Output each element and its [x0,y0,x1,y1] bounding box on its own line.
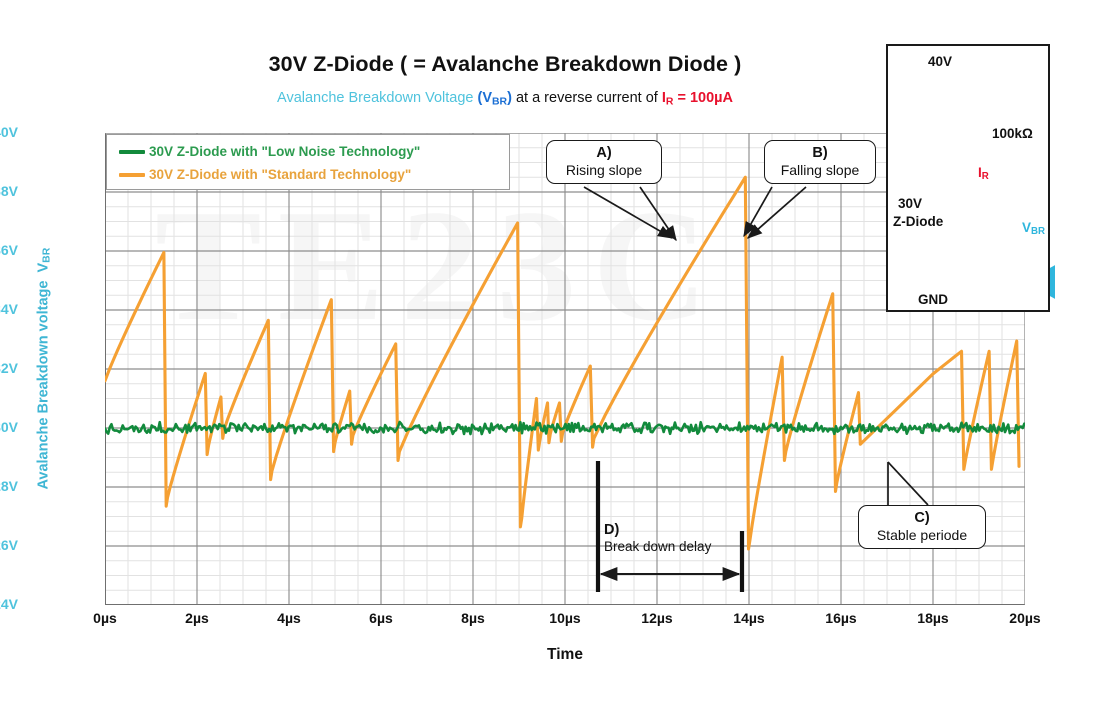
circuit-label-resistor: 100kΩ [992,126,1033,141]
y-tick-36V: 36V [0,242,18,258]
y-tick-38V: 38V [0,183,18,199]
circuit-label-diode-voltage: 30V [898,196,922,211]
legend-label-standard: 30V Z-Diode with "Standard Technology" [149,167,411,182]
x-tick-0µs: 0µs [70,610,140,626]
callout-d-text: Break down delay [600,539,750,556]
legend-item-low-noise: 30V Z-Diode with "Low Noise Technology" [119,140,509,163]
callout-d-letter: D) [600,522,750,539]
chart-subtitle: Avalanche Breakdown Voltage (VBR) at a r… [0,90,1010,107]
legend-item-standard: 30V Z-Diode with "Standard Technology" [119,163,509,186]
x-tick-18µs: 18µs [898,610,968,626]
x-tick-16µs: 16µs [806,610,876,626]
callout-b-letter: B) [775,145,865,162]
legend-swatch-green-icon [119,150,145,154]
subtitle-part-current: at a reverse current of [512,90,662,106]
y-tick-34V: 34V [0,301,18,317]
subtitle-ir: IR = 100µA [662,90,733,106]
circuit-label-vbr: VBR [1022,220,1045,237]
y-axis-title: Avalanche Breakdown voltage VBR [35,209,52,529]
y-tick-40V: 40V [0,124,18,140]
y-tick-26V: 26V [0,537,18,553]
y-tick-28V: 28V [0,478,18,494]
callout-c-text: Stable periode [869,527,975,544]
callout-a-text: Rising slope [557,162,651,179]
x-axis-title: Time [105,646,1025,664]
callout-a-letter: A) [557,145,651,162]
callout-c-stable-periode: C) Stable periode [858,505,986,549]
callout-c-letter: C) [869,510,975,527]
callout-d-break-down-delay: D) Break down delay [600,522,750,556]
y-tick-32V: 32V [0,360,18,376]
circuit-label-current: IR [978,165,989,182]
callout-b-falling-slope: B) Falling slope [764,140,876,184]
circuit-label-ground: GND [918,292,948,307]
x-tick-12µs: 12µs [622,610,692,626]
circuit-label-supply: 40V [928,54,952,69]
series-standard-technology [105,177,1019,549]
x-tick-10µs: 10µs [530,610,600,626]
x-tick-6µs: 6µs [346,610,416,626]
x-tick-20µs: 20µs [990,610,1060,626]
circuit-label-diode-name: Z-Diode [893,214,943,229]
circuit-diagram [886,44,1050,312]
callout-b-text: Falling slope [775,162,865,179]
chart-title: 30V Z-Diode ( = Avalanche Breakdown Diod… [0,52,1010,77]
y-tick-30V: 30V [0,419,18,435]
legend-label-low-noise: 30V Z-Diode with "Low Noise Technology" [149,144,420,159]
subtitle-vbr: (VBR) [478,90,512,106]
subtitle-part-voltage: Avalanche Breakdown Voltage [277,90,477,106]
x-tick-8µs: 8µs [438,610,508,626]
x-tick-14µs: 14µs [714,610,784,626]
legend-swatch-orange-icon [119,173,145,177]
x-tick-2µs: 2µs [162,610,232,626]
callout-a-rising-slope: A) Rising slope [546,140,662,184]
x-tick-4µs: 4µs [254,610,324,626]
y-tick-24V: 24V [0,596,18,612]
chart-legend: 30V Z-Diode with "Low Noise Technology" … [106,134,510,190]
